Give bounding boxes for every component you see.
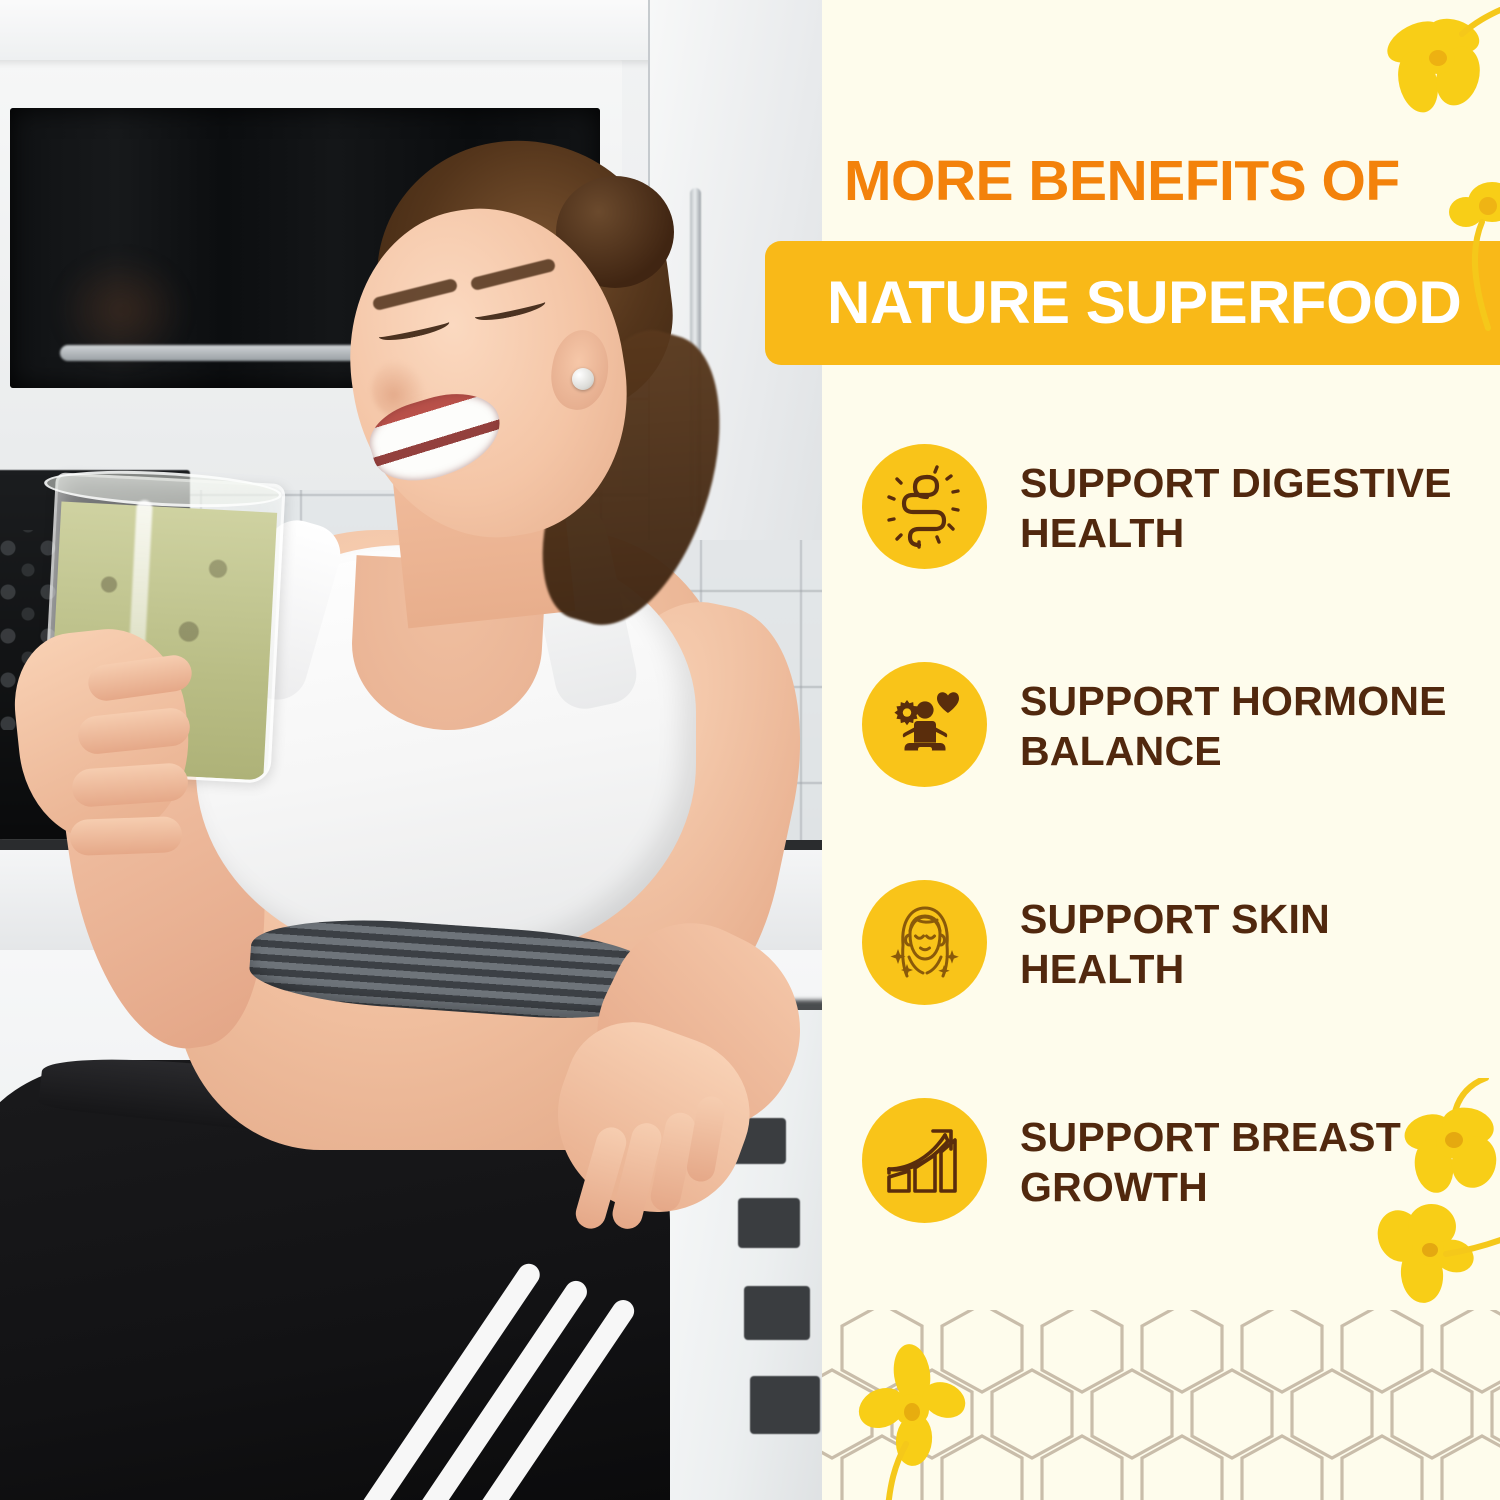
- benefit-label: SUPPORT DIGESTIVE HEALTH: [1020, 458, 1460, 558]
- flower-top-right-icon: [1370, 4, 1500, 124]
- left-finger-4: [69, 816, 182, 856]
- growth-chart-icon: [862, 1098, 987, 1223]
- flower-bottom-left-icon: [856, 1338, 986, 1500]
- benefit-label: SUPPORT HORMONE BALANCE: [1020, 676, 1460, 776]
- benefit-item-skin-health: SUPPORT SKIN HEALTH: [822, 876, 1500, 1094]
- pearl-earring: [572, 368, 594, 390]
- headline: MORE BENEFITS OF: [844, 152, 1484, 210]
- benefit-item-digestive-health: SUPPORT DIGESTIVE HEALTH: [822, 440, 1500, 658]
- left-finger-3: [71, 762, 189, 808]
- woman-subject: [0, 0, 822, 1500]
- flower-bottom-right-2-icon: [1366, 1192, 1500, 1322]
- title-band: NATURE SUPERFOOD: [765, 241, 1500, 365]
- intestine-icon: [862, 444, 987, 569]
- meditation-balance-icon: [862, 662, 987, 787]
- flower-top-right-2-icon: [1448, 176, 1500, 336]
- woman-face-sparkle-icon: [862, 880, 987, 1005]
- product-benefits-infographic: MORE BENEFITS OF: [0, 0, 1500, 1500]
- benefit-label: SUPPORT SKIN HEALTH: [1020, 894, 1460, 994]
- lifestyle-photo: [0, 0, 822, 1500]
- benefit-item-hormone-balance: SUPPORT HORMONE BALANCE: [822, 658, 1500, 876]
- title-band-text: NATURE SUPERFOOD: [765, 273, 1461, 333]
